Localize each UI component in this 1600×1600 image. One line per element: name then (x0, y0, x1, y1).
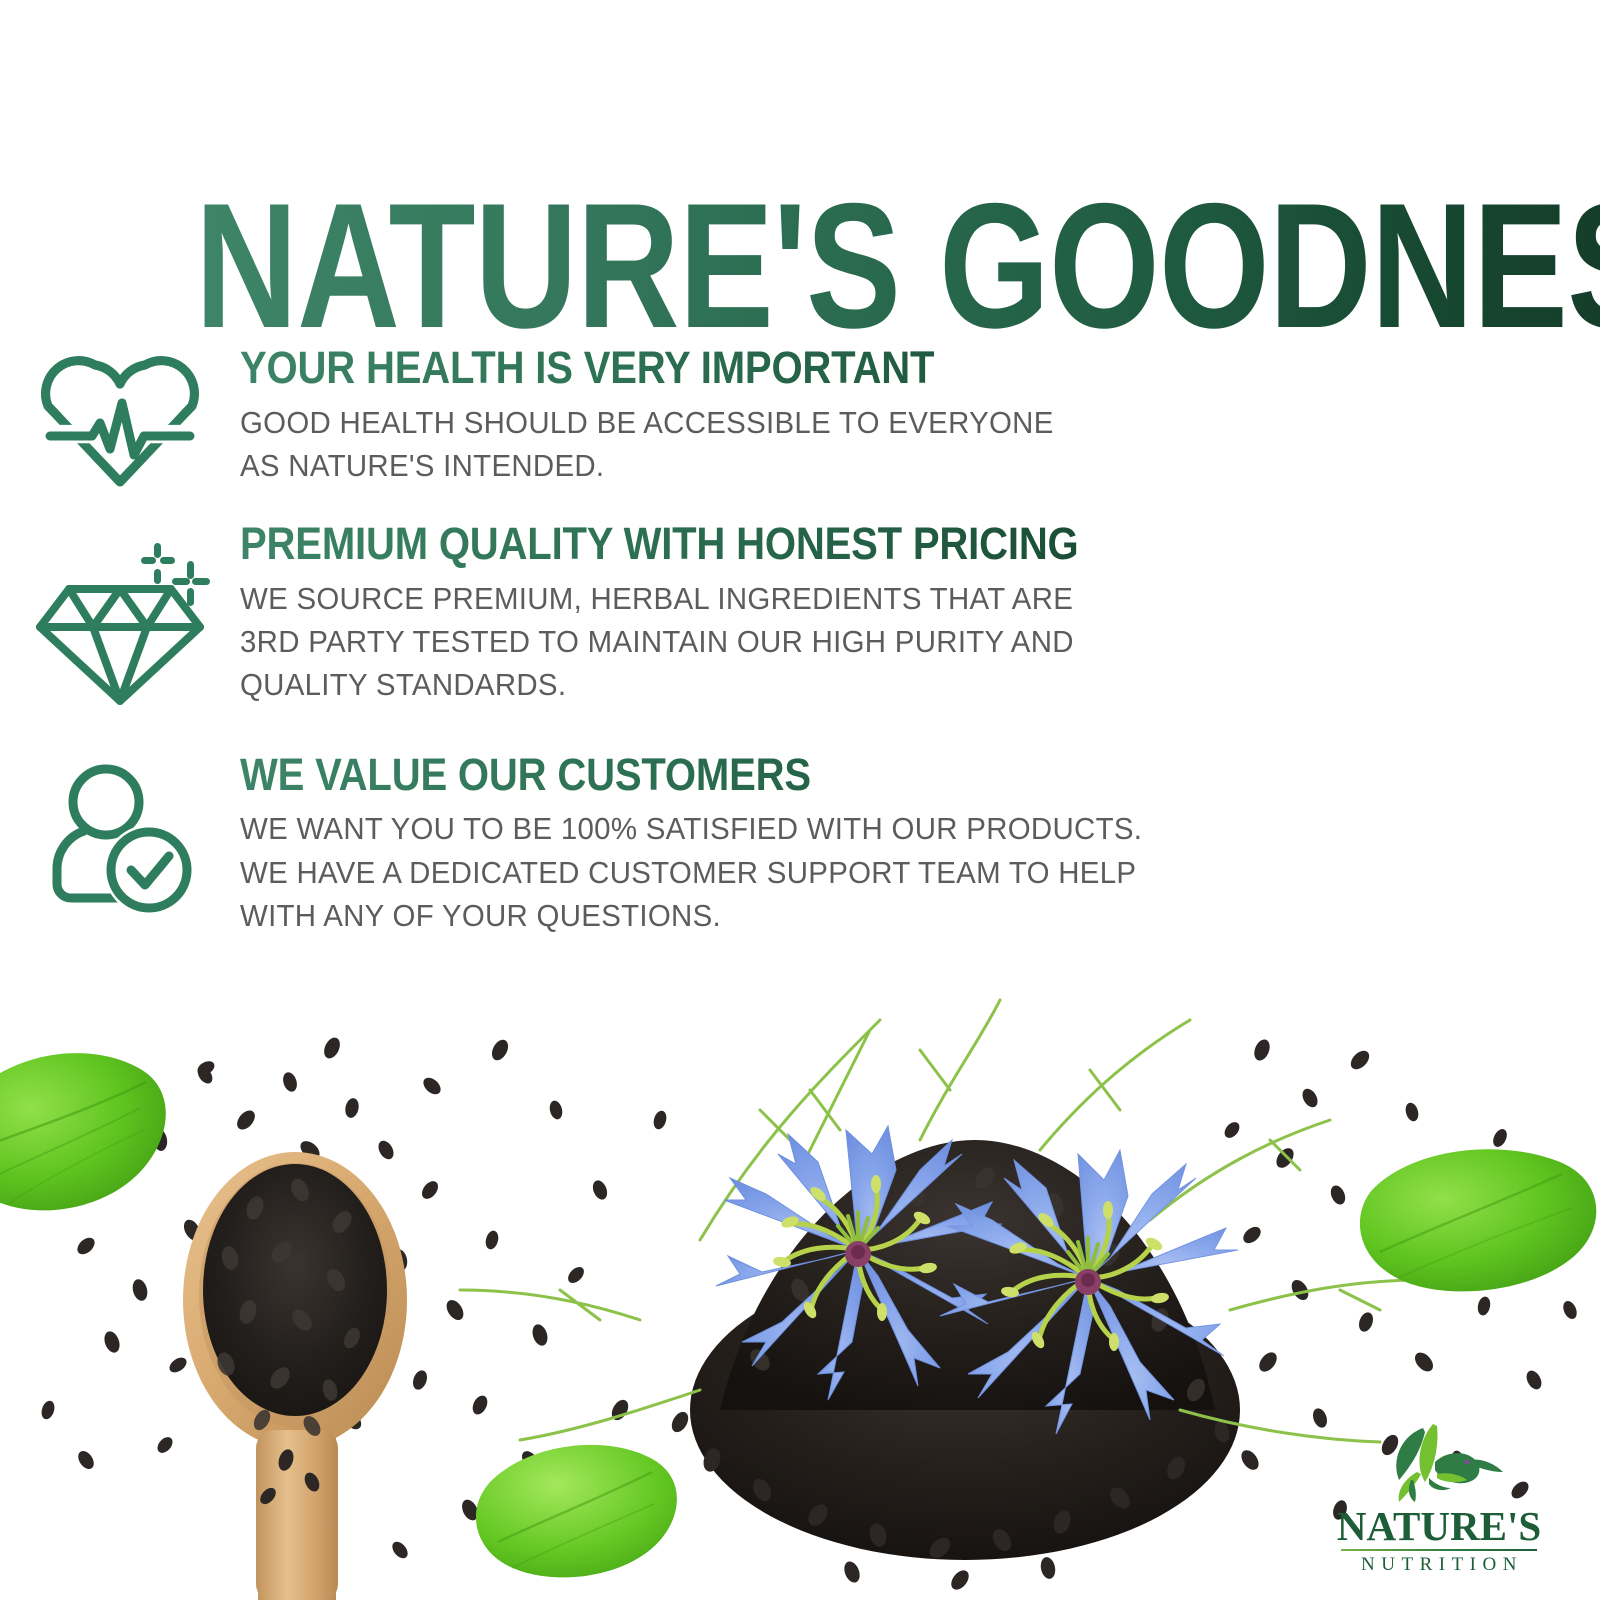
page-title: NATURE'S GOODNESS (195, 181, 1600, 350)
user-check-icon (39, 758, 201, 916)
feature-text: PREMIUM QUALITY WITH HONEST PRICING WE S… (240, 521, 1600, 708)
feature-body: WE WANT YOU TO BE 100% SATISFIED WITH OU… (240, 808, 1495, 938)
feature-body-line: WITH ANY OF YOUR QUESTIONS. (240, 895, 1495, 938)
diamond-sparkle-icon (30, 531, 210, 707)
feature-title: WE VALUE OUR CUSTOMERS (240, 752, 1397, 799)
feature-item-quality: PREMIUM QUALITY WITH HONEST PRICING WE S… (0, 521, 1600, 708)
feature-item-health: YOUR HEALTH IS VERY IMPORTANT GOOD HEALT… (0, 345, 1600, 491)
hummingbird-leaf-icon (1373, 1422, 1505, 1504)
feature-body-line: WE HAVE A DEDICATED CUSTOMER SUPPORT TEA… (240, 852, 1495, 895)
feature-title: PREMIUM QUALITY WITH HONEST PRICING (240, 521, 1397, 568)
feature-body-line: WE WANT YOU TO BE 100% SATISFIED WITH OU… (240, 808, 1495, 851)
logo-divider (1341, 1549, 1537, 1551)
logo-name: NATURE'S (1324, 1506, 1554, 1547)
logo-subtitle: NUTRITION (1324, 1554, 1554, 1576)
feature-body-line: WE SOURCE PREMIUM, HERBAL INGREDIENTS TH… (240, 578, 1495, 621)
feature-body-line: AS NATURE'S INTENDED. (240, 445, 1495, 488)
feature-body-line: GOOD HEALTH SHOULD BE ACCESSIBLE TO EVER… (240, 402, 1495, 445)
brand-logo[interactable]: NATURE'S NUTRITION (1324, 1422, 1554, 1576)
feature-item-customers: WE VALUE OUR CUSTOMERS WE WANT YOU TO BE… (0, 752, 1600, 939)
wooden-spoon (183, 1152, 407, 1600)
feature-text: YOUR HEALTH IS VERY IMPORTANT GOOD HEALT… (240, 345, 1600, 488)
feature-body-line: QUALITY STANDARDS. (240, 664, 1495, 707)
feature-body: WE SOURCE PREMIUM, HERBAL INGREDIENTS TH… (240, 578, 1495, 708)
feature-title: YOUR HEALTH IS VERY IMPORTANT (240, 345, 1397, 392)
feature-icon-slot (0, 345, 240, 491)
feature-text: WE VALUE OUR CUSTOMERS WE WANT YOU TO BE… (240, 752, 1600, 939)
basil-leaf-center (476, 1445, 677, 1578)
feature-body-line: 3RD PARTY TESTED TO MAINTAIN OUR HIGH PU… (240, 621, 1495, 664)
basil-leaf-left (0, 1053, 166, 1210)
feature-icon-slot (0, 521, 240, 707)
feature-list: YOUR HEALTH IS VERY IMPORTANT GOOD HEALT… (0, 345, 1600, 968)
feature-icon-slot (0, 752, 240, 916)
infographic-page: NATURE'S GOODNESS YOUR HEALTH IS VERY IM… (0, 0, 1600, 1600)
feature-body: GOOD HEALTH SHOULD BE ACCESSIBLE TO EVER… (240, 402, 1495, 489)
basil-leaf-right (1360, 1149, 1596, 1291)
heart-pulse-icon (36, 351, 204, 491)
